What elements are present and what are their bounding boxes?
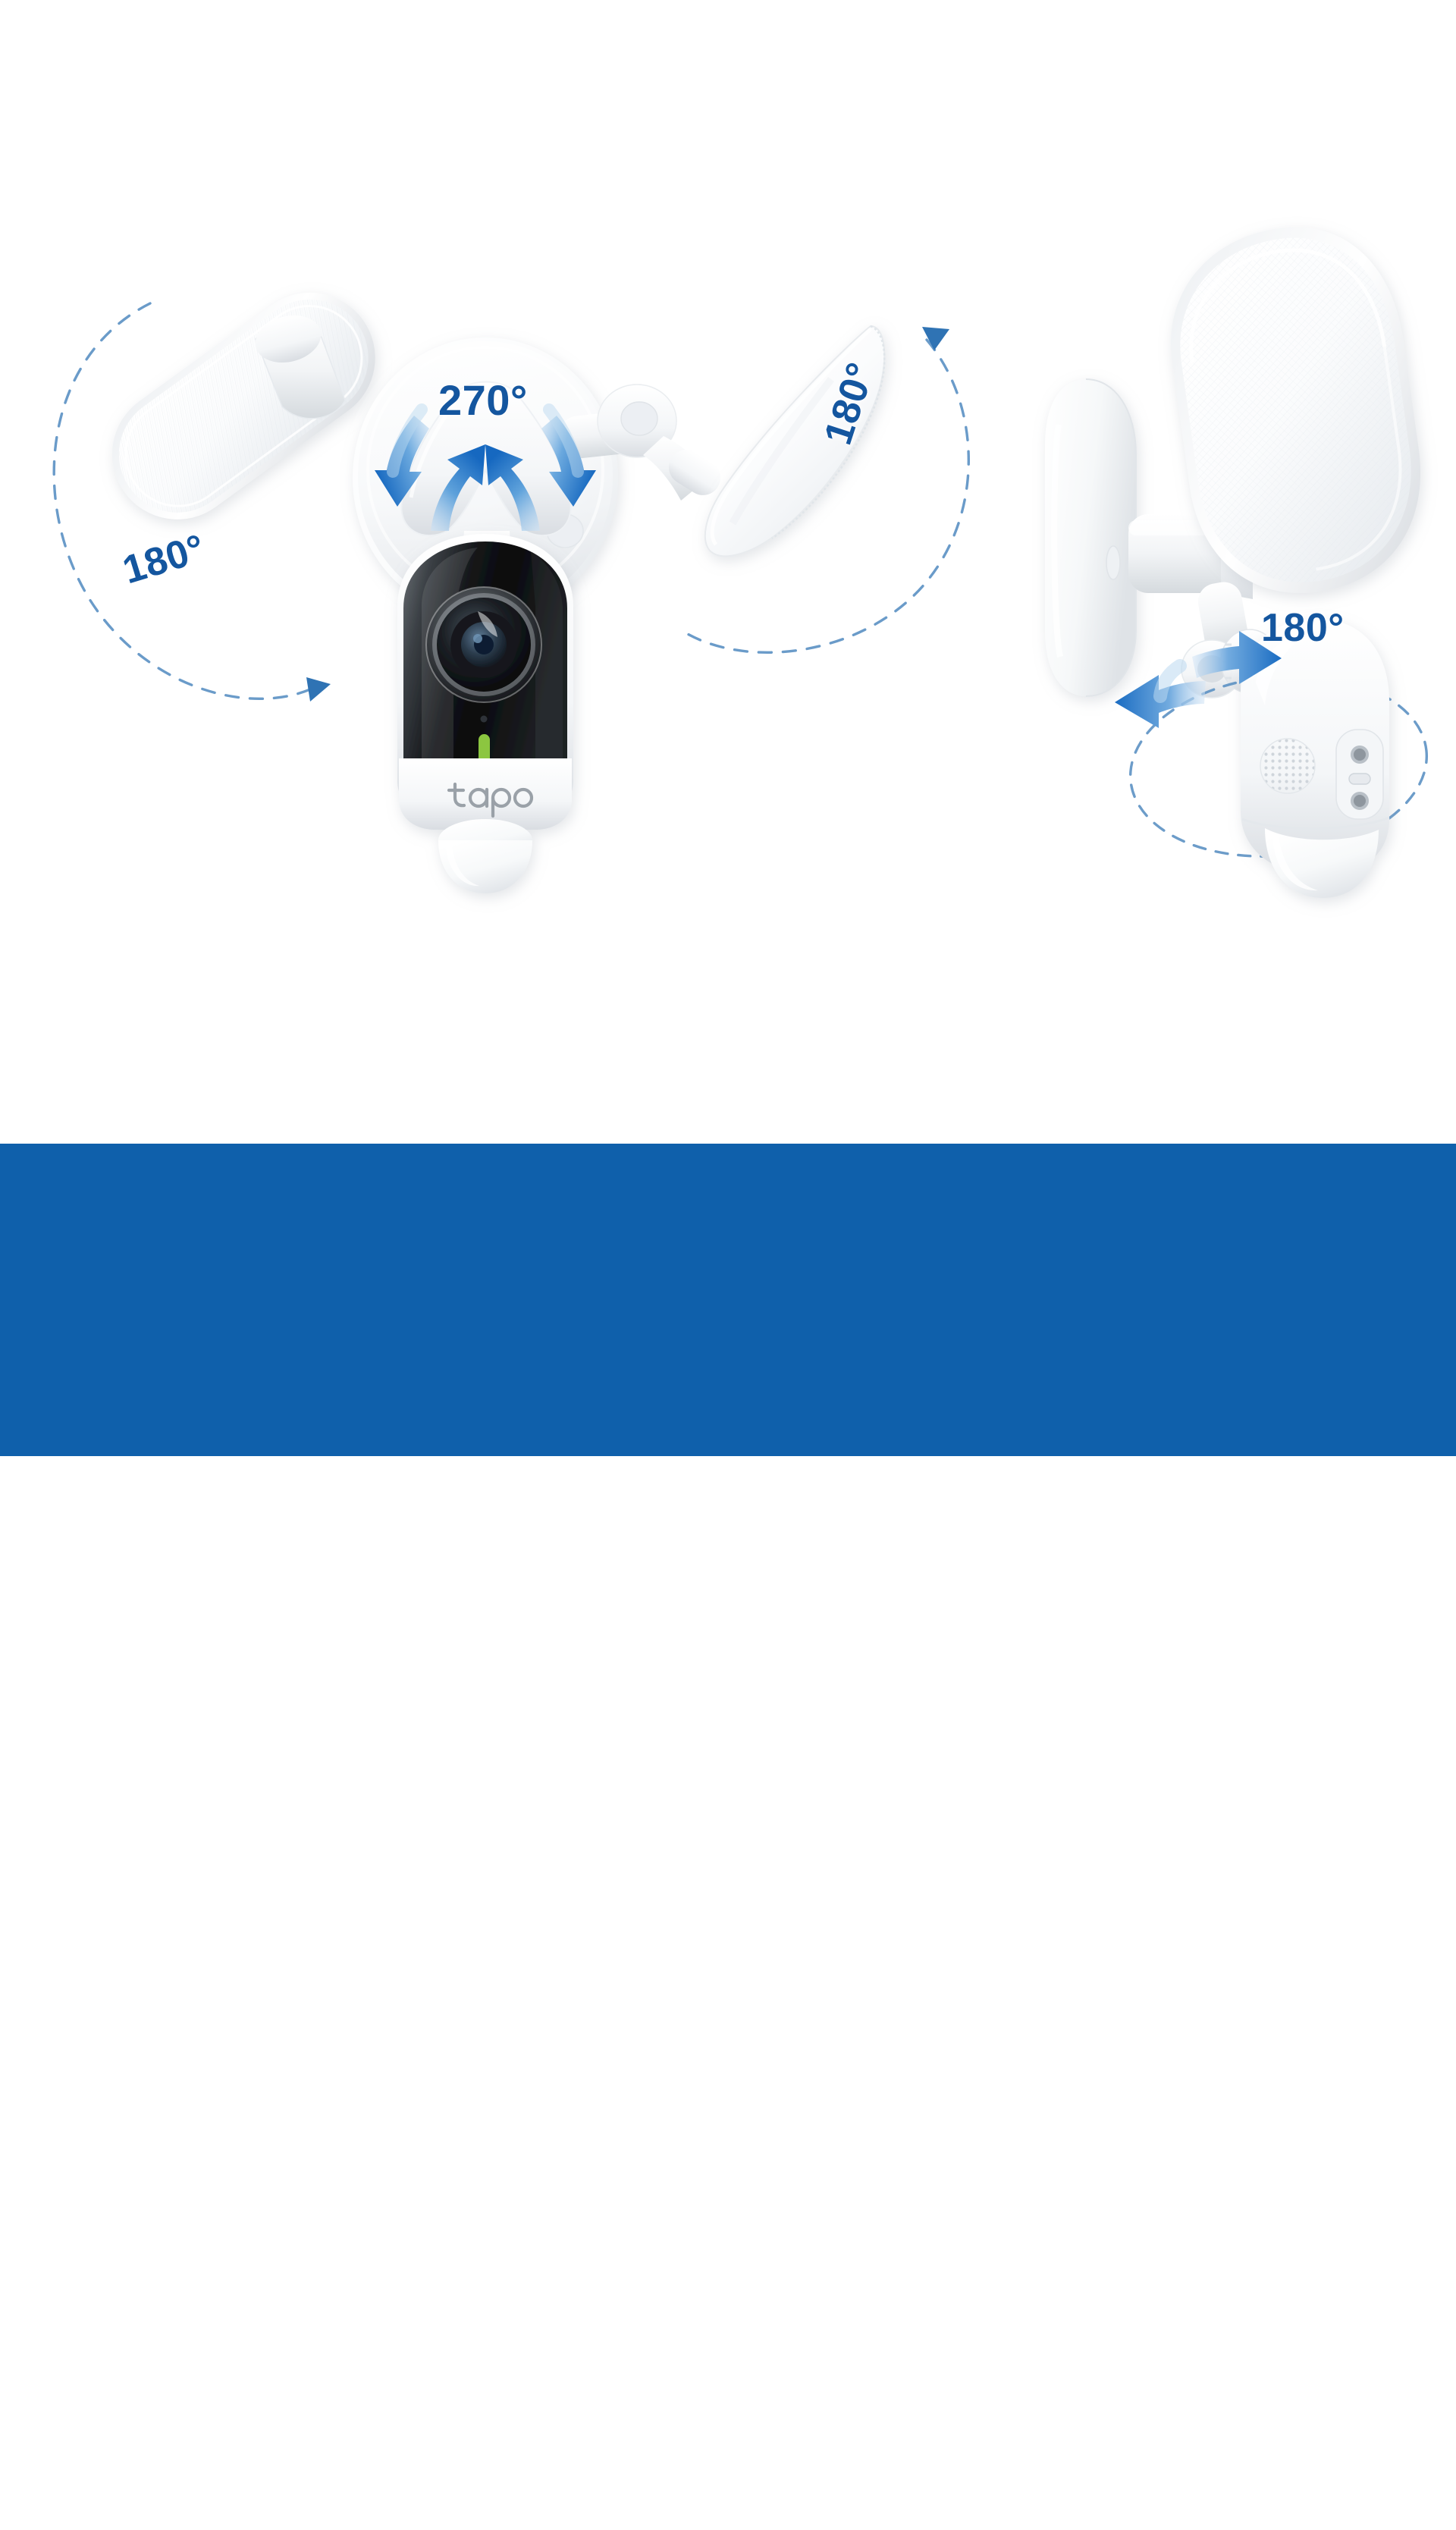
poster-root: 270° 180° 180° 180° Adjust Easily, Cover… (0, 0, 1456, 1456)
footer-subtext-line1: Angle the floodlight's position to perfe… (97, 2424, 969, 2477)
left-floodlight-panel (86, 267, 401, 545)
front-view-group (54, 267, 968, 893)
side-view-group (1045, 213, 1436, 898)
footer-headline: Adjust Easily, Cover Completely. (97, 2343, 871, 2393)
footer-subtext-line2: illuminate your entire space. (97, 2477, 969, 2530)
wall-mount-disc (1045, 379, 1136, 696)
left-180-arrowhead (306, 677, 331, 702)
footer-subtext: Angle the floodlight's position to perfe… (97, 2424, 969, 2530)
camera-head (397, 534, 573, 893)
usb-port (1349, 774, 1370, 784)
rotation-270-label: 270° (438, 375, 528, 425)
product-illustration-area: 270° 180° 180° 180° (0, 0, 1456, 1144)
mount-release-slot (1106, 546, 1120, 579)
rotation-180-side-label: 180° (1261, 605, 1345, 651)
camera-mic-hole-top (481, 716, 488, 723)
tapo-brand-logo (1137, 2387, 1365, 2494)
product-illustration-svg (0, 0, 1456, 1144)
footer-banner: Adjust Easily, Cover Completely. Angle t… (0, 1144, 1456, 1456)
port-panel (1336, 730, 1383, 819)
